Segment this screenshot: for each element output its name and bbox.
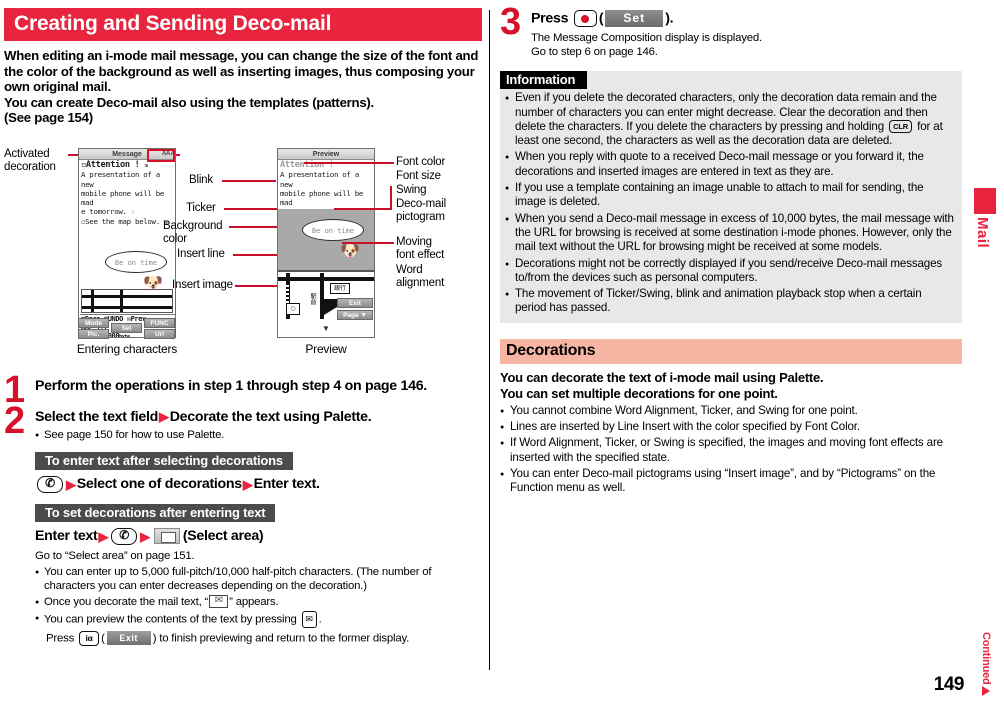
select-area-note: Go to “Select area” on page 151. (35, 549, 482, 563)
arrow-right-icon: ▶ (159, 409, 169, 424)
side-tab-label: Mail (974, 217, 991, 248)
decorations-item-1: You cannot combine Word Alignment, Ticke… (500, 404, 962, 418)
left-column: Creating and Sending Deco-mail When edit… (4, 8, 482, 646)
subline-2: Enter text▶▶(Select area) (35, 527, 482, 546)
subline-1: ▶Select one of decorations▶Enter text. (35, 475, 482, 494)
speech-bubble-be-on-time: Be on time (105, 251, 167, 273)
step-2-sub2-bullet-3: You can preview the contents of the text… (35, 611, 482, 646)
highlight-box-activated-decoration (147, 149, 175, 162)
subheader-set-decorations-after-entering: To set decorations after entering text (35, 504, 275, 522)
clr-key-icon[interactable]: CLR (889, 120, 912, 133)
phone-message-body: ▫Attention ! ⇲ A presentation of a new m… (79, 160, 175, 246)
side-tab-block (974, 188, 996, 214)
information-item-4: When you send a Deco-mail message in exc… (504, 212, 954, 255)
information-item-6: The movement of Ticker/Swing, blink and … (504, 287, 954, 316)
manual-page: Creating and Sending Deco-mail When edit… (0, 0, 1004, 704)
preview-insert-line (278, 270, 374, 272)
step-1: 1 Perform the operations in step 1 throu… (4, 378, 482, 395)
step-2-sub2-bullet-2: Once you decorate the mail text, “” appe… (35, 595, 482, 609)
subheader-enter-text-after-selecting: To enter text after selecting decoration… (35, 452, 293, 470)
information-item-1: Even if you delete the decorated charact… (504, 91, 954, 148)
set-softkey-label[interactable]: Set (605, 10, 663, 27)
column-divider (489, 10, 490, 670)
step-2: 2 Select the text field▶Decorate the tex… (4, 409, 482, 646)
leader-swing-vert (390, 186, 392, 210)
information-tag: Information (500, 71, 587, 89)
call-key-icon[interactable] (37, 476, 63, 493)
information-item-5: Decorations might not be correctly displ… (504, 257, 954, 286)
select-area-icon[interactable] (154, 528, 180, 544)
figure-label-insert-image: Insert image (172, 279, 233, 292)
step-3-line-1: The Message Composition display is displ… (531, 31, 962, 45)
step-2-sub2-bullet-1: You can enter up to 5,000 full-pitch/10,… (35, 565, 482, 593)
softkey-set[interactable]: Set (111, 323, 142, 333)
arrow-right-icon: ▶ (243, 478, 253, 491)
caption-preview: Preview (263, 342, 389, 356)
intro-paragraph: When editing an i-mode mail message, you… (4, 48, 482, 126)
softkey-page[interactable]: Page ▼ (337, 310, 373, 320)
figure-label-insert-line: Insert line (177, 248, 225, 261)
subline-1-b: Enter text. (254, 475, 320, 494)
map-label-bank: 銀行 (330, 283, 350, 294)
exit-softkey-label[interactable]: Exit (107, 631, 151, 645)
figure-deco-mail-screens: Activated decoration Message A A A ▫Atte… (4, 132, 482, 372)
bullet-2-tail: ” appears. (229, 596, 278, 608)
information-box: Information Even if you delete the decor… (500, 71, 962, 322)
step-2-head-b: Decorate the text using Palette. (170, 409, 372, 425)
map-strip (81, 289, 173, 313)
leader-background-color (229, 226, 278, 228)
figure-label-blink: Blink (189, 174, 213, 187)
bullet-2-text: Once you decorate the mail text, “ (44, 596, 208, 608)
step-1-heading: Perform the operations in step 1 through… (35, 378, 482, 395)
decorations-lead: You can decorate the text of i-mode mail… (500, 370, 962, 402)
leader-moving-font-effect (342, 242, 394, 244)
left-phone-softkeys: Mode Set FUNC Pic. Url (78, 318, 176, 339)
phone-title-preview: Preview (278, 149, 374, 160)
figure-label-font-color: Font color (396, 156, 445, 169)
bullet-3-tail: . (319, 613, 322, 625)
preview-speech-bubble: Be on time (302, 219, 364, 241)
arrow-right-icon: ▶ (140, 530, 150, 543)
softkey-mode[interactable]: Mode (78, 318, 109, 328)
step-2-number: 2 (4, 402, 25, 440)
phone-screen-entering-characters: Message A A A ▫Attention ! ⇲ A presentat… (78, 148, 176, 338)
step-3-line-2: Go to step 6 on page 146. (531, 45, 962, 59)
softkey-exit[interactable]: Exit (337, 298, 373, 308)
information-item-2: When you reply with quote to a received … (504, 150, 954, 179)
softkey-url[interactable]: Url (144, 329, 175, 339)
step-3-heading: Press (Set). (531, 10, 962, 27)
information-item-3: If you use a template containing an imag… (504, 181, 954, 210)
i-alpha-key-icon[interactable]: iα (79, 631, 99, 646)
leader-swing (334, 208, 392, 210)
figure-label-word-alignment: Word alignment (396, 264, 444, 290)
call-key-icon[interactable] (111, 528, 137, 545)
step-3-number: 3 (500, 3, 521, 41)
scroll-down-arrow-icon: ▼ (322, 324, 330, 333)
subline-2-b: (Select area) (183, 527, 263, 546)
decorations-item-3: If Word Alignment, Ticker, or Swing is s… (500, 436, 962, 465)
step-2-bullet-1: See page 150 for how to use Palette. (35, 428, 482, 442)
step-3: 3 Press (Set). The Message Composition d… (500, 10, 962, 59)
preview-title-text: Preview (313, 151, 339, 158)
decorations-item-2: Lines are inserted by Line Insert with t… (500, 420, 962, 434)
arrow-right-icon: ▶ (98, 530, 108, 543)
side-tab-mail: Mail (974, 188, 996, 316)
step-3-suffix: ). (665, 10, 673, 26)
preview-dog-pictogram: 🐶 (340, 241, 360, 261)
bullet-3-text: You can preview the contents of the text… (44, 613, 297, 625)
step-2-heading: Select the text field▶Decorate the text … (35, 409, 482, 426)
page-title: Creating and Sending Deco-mail (4, 8, 482, 41)
page-number: 149 (934, 674, 964, 696)
figure-label-activated-decoration: Activated decoration (4, 148, 56, 174)
decorations-section-header: Decorations (500, 339, 962, 364)
softkey-func[interactable]: FUNC (144, 318, 175, 328)
mail-key-icon[interactable] (302, 611, 317, 628)
center-key-icon[interactable] (574, 10, 597, 27)
deco-mail-icon (209, 595, 228, 608)
leader-blink (222, 180, 276, 182)
subline-1-a: Select one of decorations (77, 475, 242, 494)
continued-marker: Continued (980, 632, 992, 696)
caption-entering-characters: Entering characters (64, 342, 190, 356)
preview-softkeys: Exit Page ▼ (337, 298, 373, 318)
continued-arrow-icon (982, 686, 990, 696)
leader-insert-image (235, 285, 278, 287)
information-item-1-text: Even if you delete the decorated charact… (515, 91, 937, 133)
press-suffix: ) to finish previewing and return to the… (153, 632, 409, 644)
step-2-head-a: Select the text field (35, 409, 158, 425)
figure-label-swing: Swing (396, 184, 426, 197)
map-marker-circle: ○ (286, 303, 300, 315)
map-label-station: 駅前 (308, 293, 315, 305)
figure-label-moving-font-effect: Moving font effect (396, 236, 444, 262)
figure-label-deco-mail-pictogram: Deco-mail pictogram (396, 198, 446, 224)
leader-insert-line (233, 254, 278, 256)
step-3-press-label: Press (531, 10, 568, 26)
continued-label: Continued (980, 632, 992, 685)
figure-label-font-size: Font size (396, 170, 441, 183)
decorations-item-4: You can enter Deco-mail pictograms using… (500, 467, 962, 496)
subline-2-a: Enter text (35, 527, 97, 546)
press-prefix: Press (46, 632, 74, 644)
right-column: 3 Press (Set). The Message Composition d… (500, 4, 962, 495)
phone-title-text: Message (112, 151, 142, 158)
arrow-right-icon: ▶ (66, 478, 76, 491)
figure-label-ticker: Ticker (186, 202, 216, 215)
figure-label-background-color: Background color (163, 220, 222, 246)
leader-font-color (304, 162, 394, 164)
softkey-pic[interactable]: Pic. (78, 329, 109, 339)
